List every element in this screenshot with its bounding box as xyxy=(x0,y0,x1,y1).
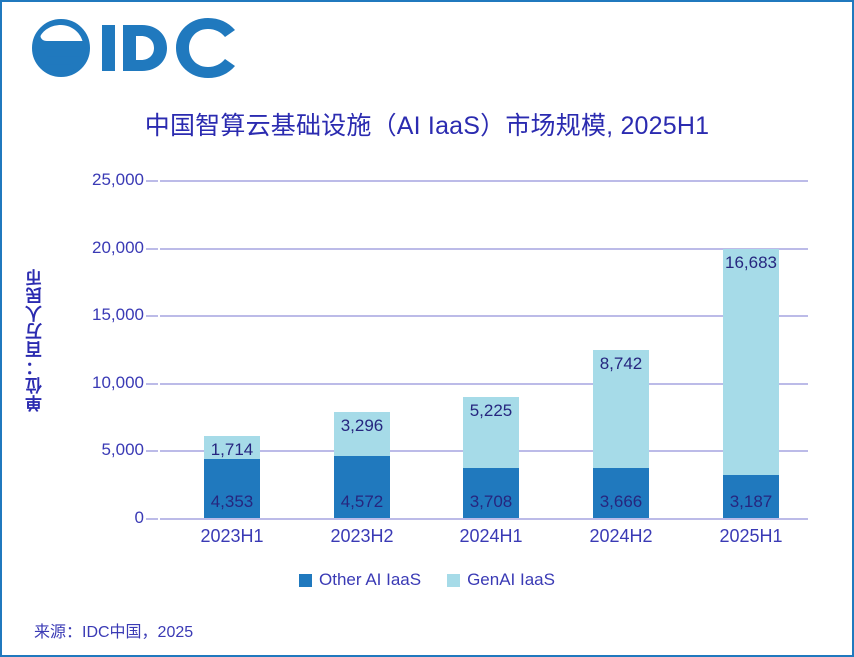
y-tick-label-25000: 25,000 xyxy=(92,170,144,190)
y-axis-title-label: 单位：百万人民币 xyxy=(23,268,48,412)
bars-layer: 1,714 4,353 3,296 4,572 5,225 xyxy=(160,180,808,518)
source-note: 来源：IDC中国，2025 xyxy=(34,618,193,642)
bar-segment-other-2024H2[interactable]: 3,666 xyxy=(593,468,649,518)
chart-page: 中国智算云基础设施（AI IaaS）市场规模, 2025H1 单位：百万人民币 … xyxy=(0,0,854,657)
bar-segment-other-2023H2[interactable]: 4,572 xyxy=(334,456,390,518)
bar-segment-genai-2025H1[interactable]: 16,683 xyxy=(723,249,779,475)
bar-group-2023H1[interactable]: 1,714 4,353 xyxy=(204,436,260,518)
bar-group-2023H2[interactable]: 3,296 4,572 xyxy=(334,412,390,518)
bar-label-genai-2023H2: 3,296 xyxy=(332,416,392,436)
x-tick-label-2025H1: 2025H1 xyxy=(691,526,811,547)
bar-label-other-2024H1: 3,708 xyxy=(461,492,521,512)
legend-item-other-ai-iaas[interactable]: Other AI IaaS xyxy=(299,570,421,590)
bar-label-genai-2025H1: 16,683 xyxy=(721,253,781,273)
bar-label-other-2025H1: 3,187 xyxy=(721,492,781,512)
x-tick-label-2023H2: 2023H2 xyxy=(302,526,422,547)
gridline-0 xyxy=(160,518,808,520)
legend-swatch-icon-other-ai-iaas xyxy=(299,574,312,587)
chart-title: 中国智算云基础设施（AI IaaS）市场规模, 2025H1 xyxy=(2,106,852,142)
x-tick-label-2024H2: 2024H2 xyxy=(561,526,681,547)
x-tick-label-2024H1: 2024H1 xyxy=(431,526,551,547)
y-tick-label-20000: 20,000 xyxy=(92,238,144,258)
bar-segment-other-2023H1[interactable]: 4,353 xyxy=(204,459,260,518)
x-tick-label-2023H1: 2023H1 xyxy=(172,526,292,547)
idc-logo xyxy=(30,16,240,80)
bar-label-genai-2024H2: 8,742 xyxy=(591,354,651,374)
x-axis-tick-labels: 2023H1 2023H2 2024H1 2024H2 2025H1 xyxy=(160,526,808,554)
bar-segment-other-2024H1[interactable]: 3,708 xyxy=(463,468,519,518)
plot-area: 1,714 4,353 3,296 4,572 5,225 xyxy=(160,180,808,518)
y-axis-tick-labels: 0 5,000 10,000 15,000 20,000 25,000 xyxy=(62,180,144,518)
legend-swatch-icon-genai-iaas xyxy=(447,574,460,587)
legend-item-genai-iaas[interactable]: GenAI IaaS xyxy=(447,570,555,590)
bar-label-genai-2023H1: 1,714 xyxy=(202,440,262,460)
y-tick-label-15000: 15,000 xyxy=(92,305,144,325)
bar-segment-genai-2024H2[interactable]: 8,742 xyxy=(593,350,649,468)
bar-label-other-2023H1: 4,353 xyxy=(202,492,262,512)
bar-group-2024H1[interactable]: 5,225 3,708 xyxy=(463,397,519,518)
bar-segment-genai-2023H2[interactable]: 3,296 xyxy=(334,412,390,457)
bar-group-2025H1[interactable]: 16,683 3,187 xyxy=(723,249,779,518)
y-tick-label-0: 0 xyxy=(135,508,144,528)
y-tick-label-5000: 5,000 xyxy=(101,440,144,460)
y-tick-label-10000: 10,000 xyxy=(92,373,144,393)
bar-label-genai-2024H1: 5,225 xyxy=(461,401,521,421)
bar-segment-genai-2023H1[interactable]: 1,714 xyxy=(204,436,260,459)
bar-group-2024H2[interactable]: 8,742 3,666 xyxy=(593,350,649,518)
y-axis-title: 单位：百万人民币 xyxy=(20,240,50,440)
bar-segment-other-2025H1[interactable]: 3,187 xyxy=(723,475,779,518)
bar-label-other-2024H2: 3,666 xyxy=(591,492,651,512)
chart-legend: Other AI IaaS GenAI IaaS xyxy=(2,570,852,590)
bar-label-other-2023H2: 4,572 xyxy=(332,492,392,512)
bar-segment-genai-2024H1[interactable]: 5,225 xyxy=(463,397,519,468)
legend-label-other-ai-iaas: Other AI IaaS xyxy=(319,570,421,590)
legend-label-genai-iaas: GenAI IaaS xyxy=(467,570,555,590)
